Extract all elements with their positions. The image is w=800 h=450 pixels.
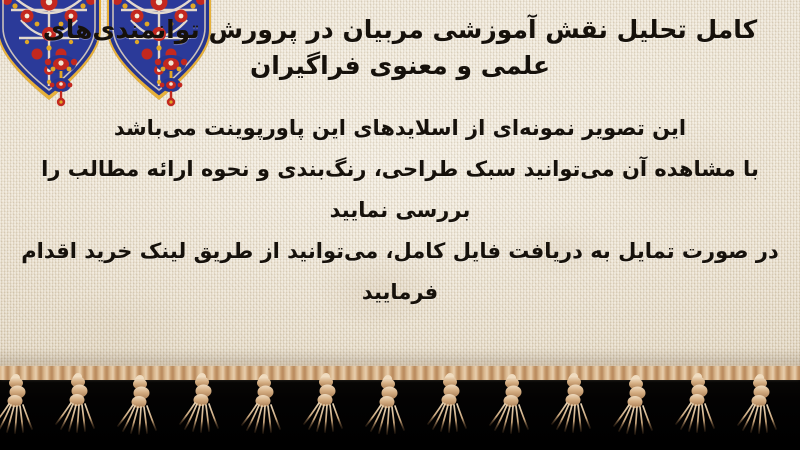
slide-title-line-1: کامل تحلیل نقش آموزشی مربیان در پرورش تو… (43, 15, 757, 44)
presentation-slide: کامل تحلیل نقش آموزشی مربیان در پرورش تو… (0, 0, 800, 450)
carpet-rope-border-icon (0, 366, 800, 380)
slide-body: این تصویر نمونه‌ای از اسلایدهای این پاور… (10, 108, 790, 313)
carpet-bottom-band (0, 372, 800, 450)
body-line-1: این تصویر نمونه‌ای از اسلایدهای این پاور… (10, 108, 790, 149)
slide-title: کامل تحلیل نقش آموزشی مربیان در پرورش تو… (10, 12, 790, 84)
slide-title-line-2: علمی و معنوی فراگیران (10, 48, 790, 84)
body-line-2: با مشاهده آن می‌توانید سبک طراحی، رنگ‌بن… (10, 149, 790, 231)
body-line-3: در صورت تمایل به دریافت فایل کامل، می‌تو… (10, 231, 790, 313)
